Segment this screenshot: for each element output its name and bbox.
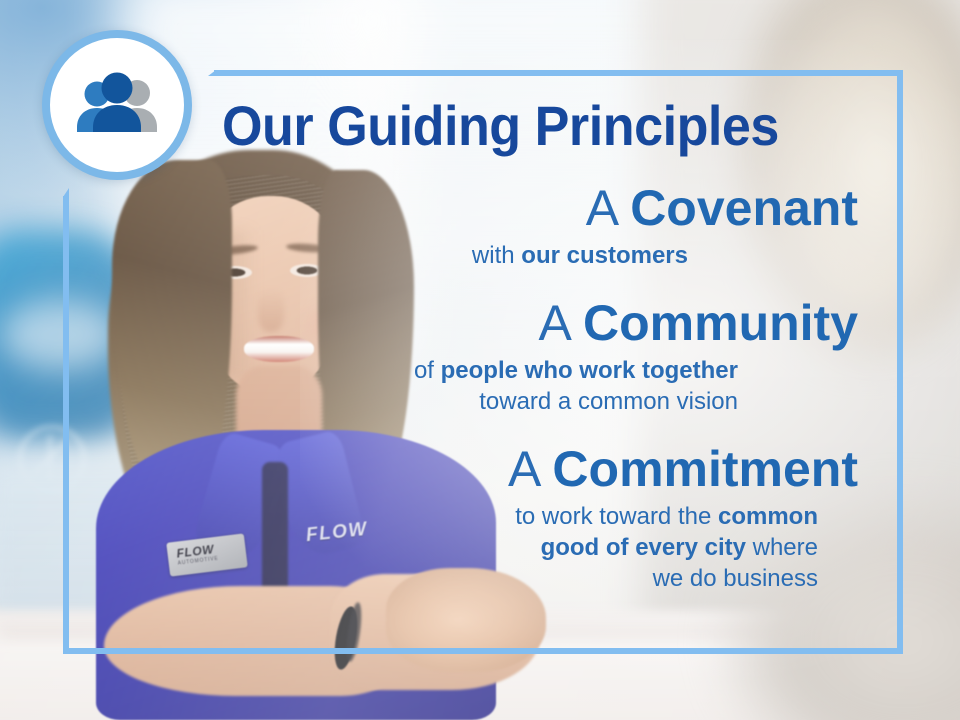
principles-list: A Covenant with our customers A Communit… [200,180,880,594]
page-title: Our Guiding Principles [222,96,836,156]
principle-commitment-title: A Commitment [200,441,858,497]
principle-commitment-keyword: Commitment [552,441,858,497]
community-sub-plain: of [414,357,441,384]
principle-commitment-subtext: to work toward the common good of every … [200,501,858,594]
principle-community-keyword: Community [583,295,858,351]
principle-community: A Community of people who work together … [200,295,858,417]
commitment-sub-line-1: to work toward the common [200,501,818,532]
commitment-sub-plain-2: where [746,534,818,561]
commitment-sub-plain-1: to work toward the [515,503,718,530]
principle-covenant-subtext: with our customers [200,240,858,271]
community-sub-bold: people who work together [441,357,738,384]
principle-commitment: A Commitment to work toward the common g… [200,441,858,594]
covenant-sub-plain: with [472,242,521,269]
principle-commitment-article: A [508,441,552,497]
people-group-badge [42,30,192,180]
commitment-sub-bold-1: common [718,503,818,530]
principle-covenant: A Covenant with our customers [200,180,858,271]
principle-community-subtext: of people who work together toward a com… [200,355,858,417]
principle-covenant-article: A [586,180,630,236]
principle-covenant-keyword: Covenant [630,180,858,236]
principle-covenant-title: A Covenant [200,180,858,236]
commitment-sub-line-3: we do business [200,563,818,594]
principle-community-title: A Community [200,295,858,351]
people-group-icon [69,69,165,141]
guiding-principles-graphic: FLOW FLOW AUTOMOTIVE [0,0,960,720]
commitment-sub-bold-2: good of every city [541,534,746,561]
commitment-sub-line-2: good of every city where [200,532,818,563]
principle-community-article: A [539,295,583,351]
community-sub-line-1: of people who work together [200,355,738,386]
covenant-sub-bold: our customers [521,242,688,269]
community-sub-line-2: toward a common vision [200,386,738,417]
